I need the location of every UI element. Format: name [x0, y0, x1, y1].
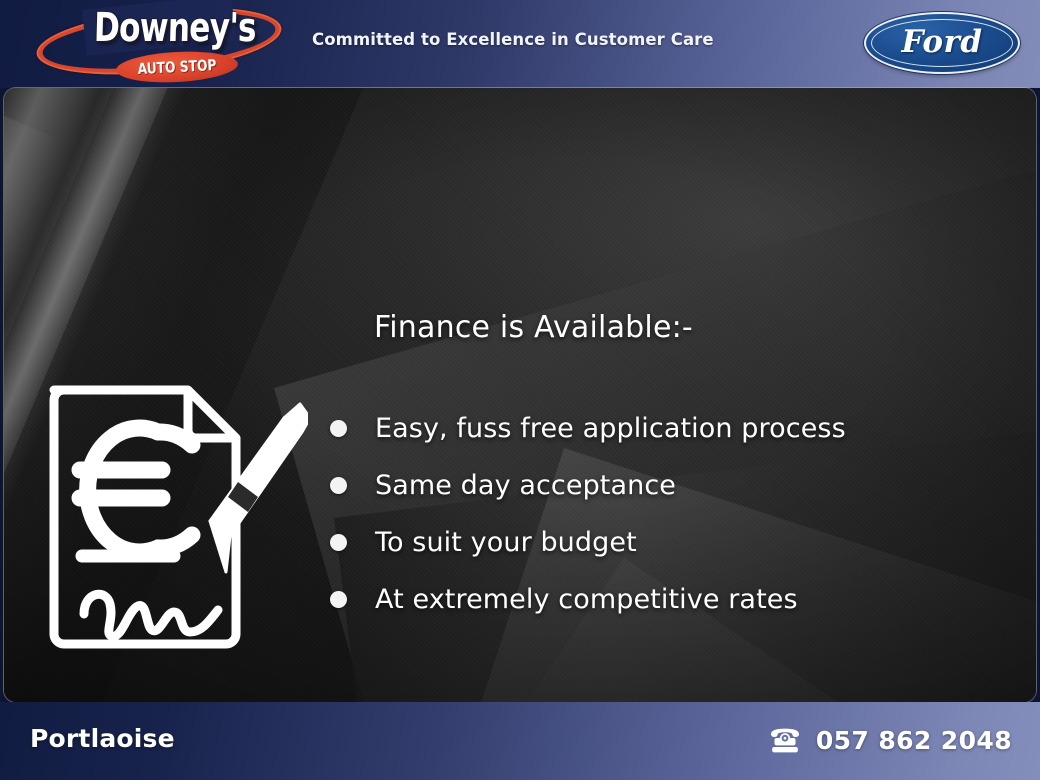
branch-location: Portlaoise — [30, 724, 175, 753]
promo-panel: Finance is Available:- Easy, fuss free a… — [4, 88, 1036, 702]
list-item: Easy, fuss free application process — [330, 400, 1030, 457]
dealer-subtitle: AUTO STOP — [126, 49, 227, 84]
benefits-list: Easy, fuss free application process Same… — [330, 400, 1030, 628]
list-item: To suit your budget — [330, 514, 1030, 571]
bullet-dot-icon — [330, 477, 347, 494]
site-footer: Portlaoise 057 862 2048 — [0, 702, 1040, 780]
ford-logo[interactable]: Ford — [864, 12, 1020, 74]
ford-logo-text: Ford — [902, 24, 983, 60]
bullet-dot-icon — [330, 591, 347, 608]
list-item-label: Same day acceptance — [375, 470, 676, 501]
contact-phone[interactable]: 057 862 2048 — [768, 726, 1012, 755]
list-item-label: At extremely competitive rates — [375, 584, 798, 615]
list-item-label: Easy, fuss free application process — [375, 413, 846, 444]
finance-content: Finance is Available:- — [374, 310, 1024, 345]
finance-document-euro-signature-icon — [40, 370, 308, 658]
bullet-dot-icon — [330, 534, 347, 551]
list-item: Same day acceptance — [330, 457, 1030, 514]
page-title: Finance is Available:- — [374, 310, 1024, 345]
list-item: At extremely competitive rates — [330, 571, 1030, 628]
dealer-logo[interactable]: Downey's AUTO STOP — [28, 2, 290, 86]
bullet-dot-icon — [330, 420, 347, 437]
tagline: Committed to Excellence in Customer Care — [312, 30, 714, 49]
list-item-label: To suit your budget — [375, 527, 637, 558]
site-header: Downey's AUTO STOP Committed to Excellen… — [0, 0, 1040, 88]
telephone-icon — [768, 728, 802, 754]
phone-number: 057 862 2048 — [816, 726, 1012, 755]
dealer-name: Downey's — [93, 6, 250, 50]
